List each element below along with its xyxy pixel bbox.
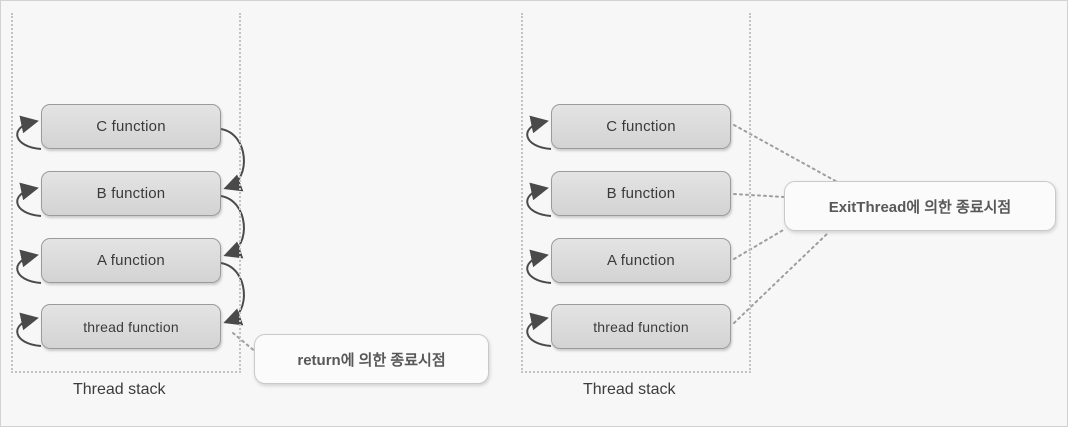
right-callout-exitthread-termination: ExitThread에 의한 종료시점	[784, 181, 1056, 231]
left-frame-c-function[interactable]: C function	[41, 104, 221, 149]
right-thread-stack-label: Thread stack	[583, 381, 675, 399]
diagram-canvas: C function B function A function thread …	[0, 0, 1068, 427]
right-frame-c-function[interactable]: C function	[551, 104, 731, 149]
left-frame-b-function[interactable]: B function	[41, 171, 221, 216]
left-frame-a-function[interactable]: A function	[41, 238, 221, 283]
left-callout-return-termination: return에 의한 종료시점	[254, 334, 489, 384]
left-thread-stack-label: Thread stack	[73, 381, 165, 399]
right-frame-b-function[interactable]: B function	[551, 171, 731, 216]
right-frame-thread-function[interactable]: thread function	[551, 304, 731, 349]
left-frame-thread-function[interactable]: thread function	[41, 304, 221, 349]
right-frame-a-function[interactable]: A function	[551, 238, 731, 283]
